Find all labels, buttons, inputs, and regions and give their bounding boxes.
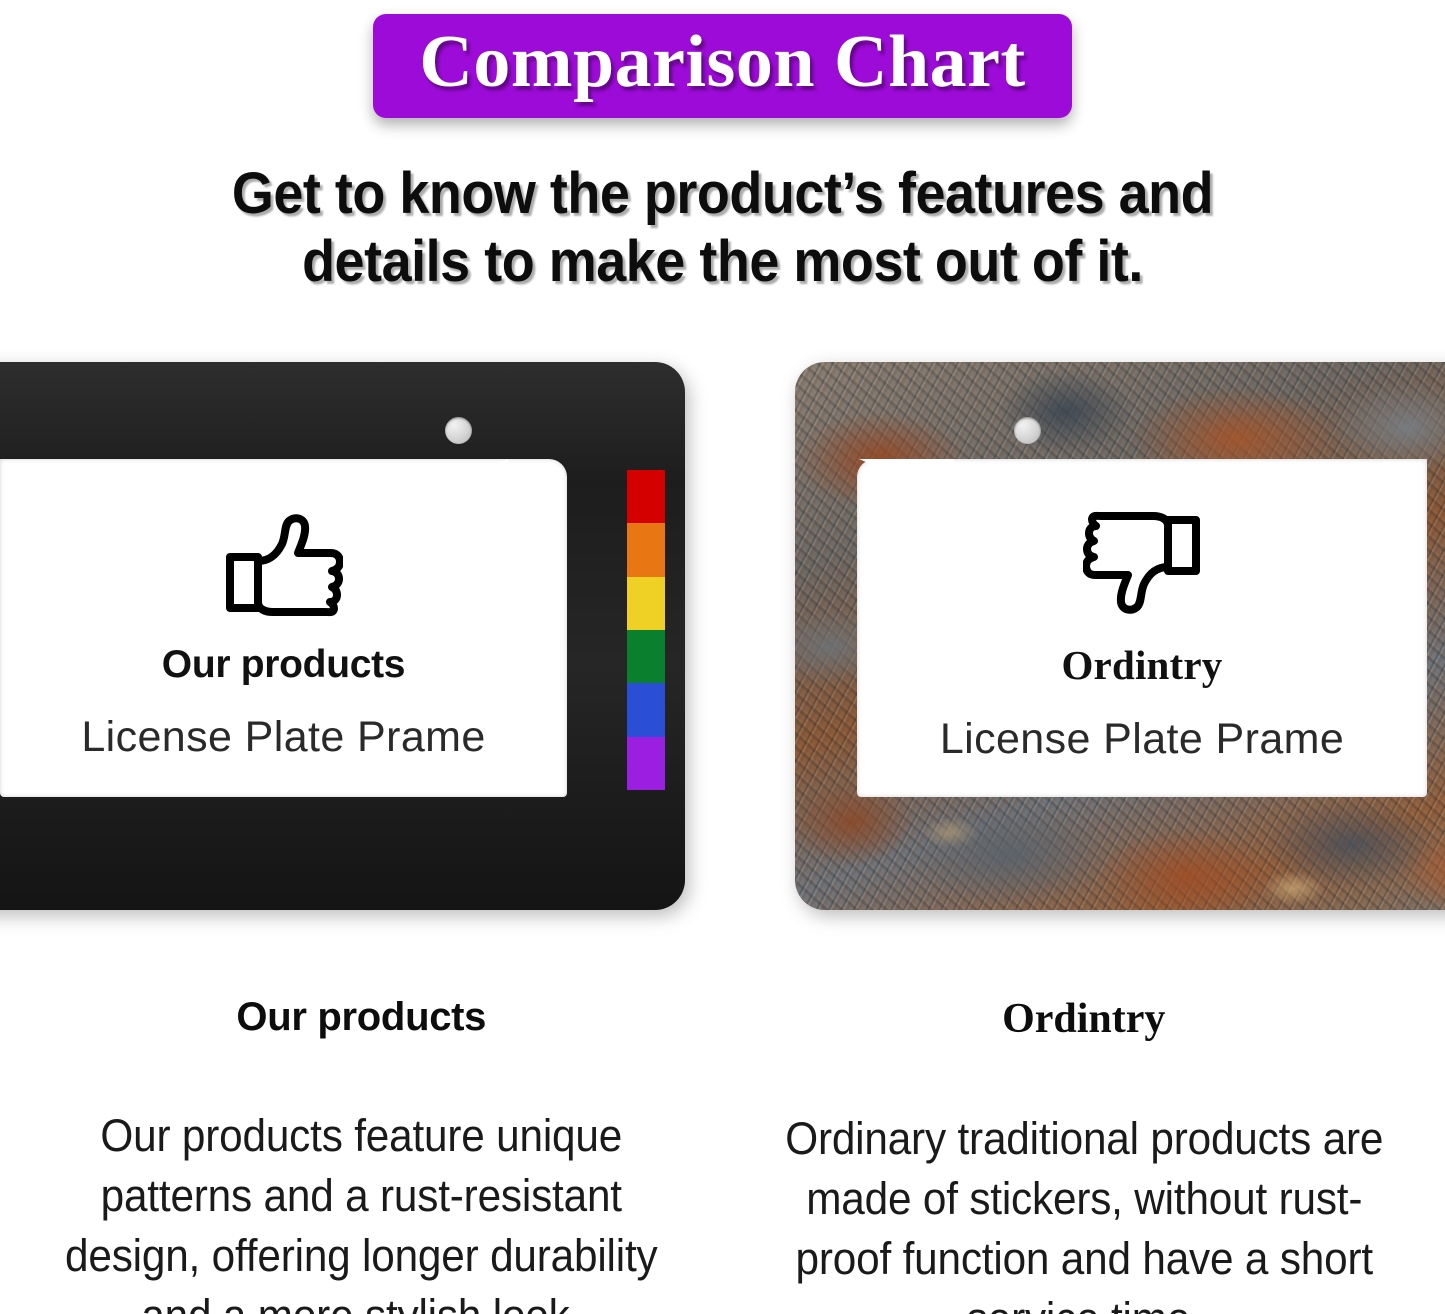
rainbow-band-green <box>627 630 665 683</box>
mounting-hole-icon <box>1014 417 1041 444</box>
plate-heading-ours: Our products <box>162 643 405 687</box>
comparison-column-ordinary: Ordintry Ordinary traditional products a… <box>723 995 1445 1314</box>
plate-heading-ordinary: Ordintry <box>1061 641 1222 689</box>
comparison-columns: Our products Our products feature unique… <box>0 995 1445 1314</box>
product-frames-row: Our products License Plate Prame Ordintr… <box>0 362 1445 914</box>
rainbow-band-yellow <box>627 577 665 630</box>
title-banner-wrapper: Comparison Chart <box>0 14 1445 118</box>
plate-content-ordinary: Ordintry License Plate Prame <box>857 459 1427 797</box>
rainbow-band-orange <box>627 523 665 576</box>
title-banner: Comparison Chart <box>373 14 1071 118</box>
column-heading-ours: Our products <box>30 995 693 1040</box>
product-frame-ordinary: Ordintry License Plate Prame <box>795 362 1445 910</box>
rainbow-band-purple <box>627 737 665 790</box>
thumbs-down-icon <box>1083 511 1201 615</box>
plate-content-ours: Our products License Plate Prame <box>0 459 567 797</box>
rainbow-band-red <box>627 470 665 523</box>
subtitle-line-1: Get to know the product’s features and <box>51 160 1395 228</box>
thumbs-up-icon <box>225 513 343 617</box>
plate-subheading-ordinary: License Plate Prame <box>940 715 1344 764</box>
rainbow-band-blue <box>627 683 665 736</box>
column-body-ordinary: Ordinary traditional products are made o… <box>772 1109 1395 1314</box>
column-heading-ordinary: Ordintry <box>753 995 1416 1043</box>
mounting-hole-icon <box>445 417 472 444</box>
page-subtitle: Get to know the product’s features and d… <box>51 160 1395 297</box>
rainbow-stripe <box>627 470 665 790</box>
product-frame-ours: Our products License Plate Prame <box>0 362 685 910</box>
page-title: Comparison Chart <box>419 20 1025 104</box>
subtitle-line-2: details to make the most out of it. <box>51 228 1395 296</box>
comparison-column-ours: Our products Our products feature unique… <box>0 995 723 1314</box>
column-body-ours: Our products feature unique patterns and… <box>50 1106 673 1314</box>
plate-subheading-ours: License Plate Prame <box>81 713 485 762</box>
